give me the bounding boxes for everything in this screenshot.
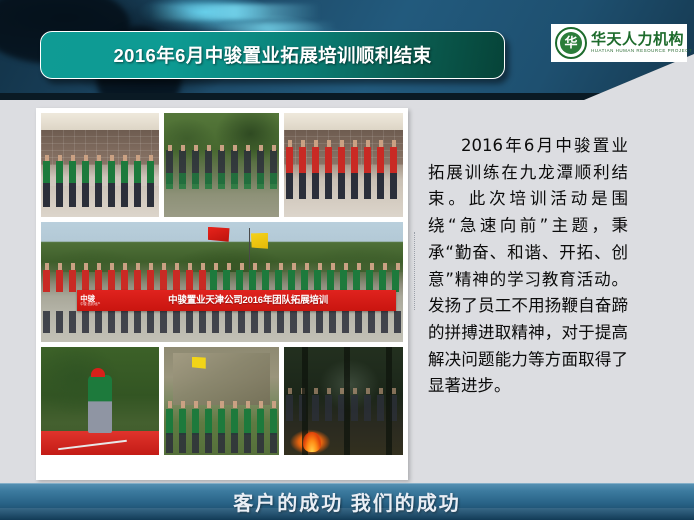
panorama-yellow-flag <box>251 233 268 249</box>
slide-footer: 客户的成功 我们的成功 <box>0 483 694 520</box>
logo-seal-icon: 华 <box>555 27 587 59</box>
header-light-streak-1 <box>150 4 320 20</box>
panorama-banner: 中骏 中骏·品质地产 中骏置业天津公司2016年团队拓展培训 <box>77 290 396 310</box>
indoor-ceiling <box>41 113 159 130</box>
climb-red-helmet-icon <box>91 368 105 377</box>
panorama-heads <box>41 263 403 270</box>
hikers-shirts <box>164 173 278 189</box>
slide-header: 2016年6月中骏置业拓展培训顺利结束 华 华天人力机构 HUATIAN HUM… <box>0 0 694 100</box>
photo-rock-group[interactable] <box>164 347 278 455</box>
indoor-people-green <box>41 161 159 183</box>
slide-root: 2016年6月中骏置业拓展培训顺利结束 华 华天人力机构 HUATIAN HUM… <box>0 0 694 520</box>
rock-wall <box>173 353 269 405</box>
jump-ceiling <box>284 113 403 130</box>
panorama-banner-text: 中骏置业天津公司2016年团队拓展培训 <box>100 296 395 306</box>
logo-text-block: 华天人力机构 HUATIAN HUMAN RESOURCE PROJECT <box>591 32 683 54</box>
rock-people-green <box>164 409 278 435</box>
photo-collage-panel: 中骏 中骏·品质地产 中骏置业天津公司2016年团队拓展培训 <box>36 108 408 480</box>
panorama-people-red <box>41 270 208 292</box>
panorama-people-legs <box>41 311 403 333</box>
jump-heads <box>284 140 403 147</box>
panorama-people-green <box>208 270 403 292</box>
logo-chinese-name: 华天人力机构 <box>591 32 683 48</box>
photo-jumping[interactable] <box>284 113 403 217</box>
photo-row-bottom <box>41 347 403 455</box>
jump-people-red <box>284 147 403 173</box>
photo-rope-climb[interactable] <box>41 347 159 455</box>
indoor-people-legs <box>41 183 159 207</box>
logo-seal-glyph: 华 <box>564 37 577 50</box>
panorama-banner-logo-sub: 中骏·品质地产 <box>80 303 100 306</box>
photo-row-top <box>41 113 403 217</box>
rock-heads <box>164 401 278 408</box>
hikers-heads <box>164 145 278 151</box>
company-logo: 华 华天人力机构 HUATIAN HUMAN RESOURCE PROJECT <box>551 24 687 62</box>
campfire-trees <box>284 347 403 455</box>
slide-title-banner: 2016年6月中骏置业拓展培训顺利结束 <box>40 31 505 79</box>
photo-indoor-group[interactable] <box>41 113 159 217</box>
photo-campfire[interactable] <box>284 347 403 455</box>
panorama-banner-logo: 中骏 中骏·品质地产 <box>77 295 100 306</box>
rock-yellow-flag <box>192 357 206 369</box>
rock-people-legs <box>164 433 278 453</box>
photo-hikers[interactable] <box>164 113 278 217</box>
photo-panorama-group[interactable]: 中骏 中骏·品质地产 中骏置业天津公司2016年团队拓展培训 <box>41 222 403 342</box>
campfire-flame-icon <box>303 432 321 452</box>
page-title: 2016年6月中骏置业拓展培训顺利结束 <box>113 42 431 68</box>
climb-person <box>88 375 112 433</box>
jump-people-legs <box>284 173 403 199</box>
logo-english-name: HUATIAN HUMAN RESOURCE PROJECT <box>591 49 685 54</box>
body-paragraph: 2016年6月中骏置业拓展训练在九龙潭顺利结束。此次培训活动是围绕“急速向前”主… <box>428 133 628 400</box>
panorama-red-flag <box>208 227 230 242</box>
content-placeholder-marker <box>414 232 419 310</box>
footer-slogan: 客户的成功 我们的成功 <box>233 487 461 516</box>
